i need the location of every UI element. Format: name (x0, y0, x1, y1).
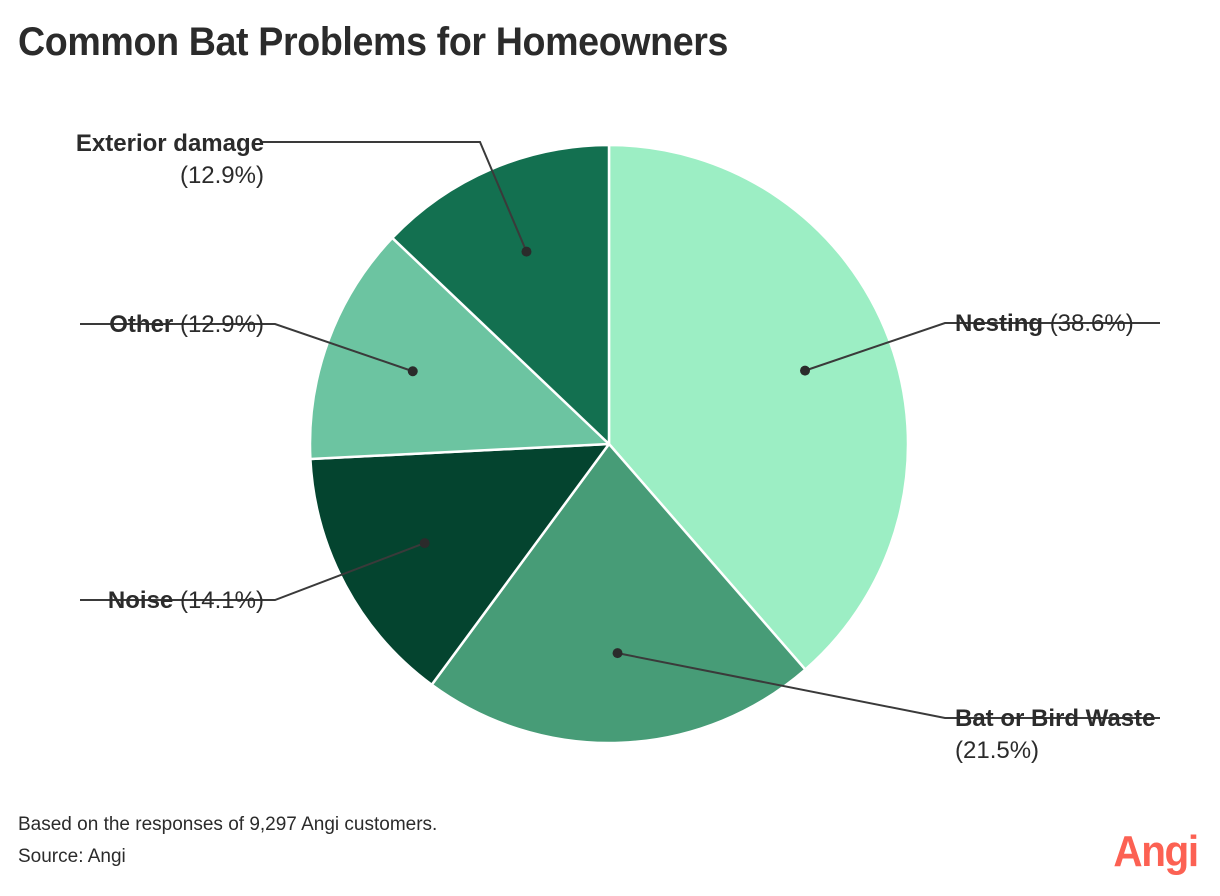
pie-label-noise-pct: (14.1%) (180, 587, 264, 614)
footer-source: Source: Angi (18, 841, 437, 874)
pie-label-bat-bird-waste-pct: (21.5%) (955, 735, 1155, 767)
pie-label-noise: Noise (14.1%) (42, 585, 264, 617)
pie-label-other-pct: (12.9%) (180, 311, 264, 338)
pie-label-exterior-damage-name: Exterior damage (76, 130, 264, 157)
chart-root: Common Bat Problems for Homeowners Exter… (0, 0, 1220, 896)
angi-logo: Angi (1114, 830, 1198, 874)
pie-label-nesting-name: Nesting (955, 310, 1043, 337)
pie-label-noise-name: Noise (108, 587, 173, 614)
footer: Based on the responses of 9,297 Angi cus… (18, 809, 437, 874)
pie-label-nesting: Nesting (38.6%) (955, 308, 1134, 340)
pie-label-exterior-damage: Exterior damage (12.9%) (42, 128, 264, 191)
footer-note: Based on the responses of 9,297 Angi cus… (18, 809, 437, 842)
pie-label-other-name: Other (109, 311, 173, 338)
page-title: Common Bat Problems for Homeowners (18, 20, 728, 65)
pie-label-bat-bird-waste: Bat or Bird Waste (21.5%) (955, 703, 1155, 766)
pie-label-exterior-damage-pct: (12.9%) (42, 160, 264, 192)
pie-label-bat-bird-waste-name: Bat or Bird Waste (955, 705, 1155, 732)
pie-label-other: Other (12.9%) (42, 309, 264, 341)
pie-slices (310, 145, 908, 743)
pie-label-nesting-pct: (38.6%) (1050, 310, 1134, 337)
